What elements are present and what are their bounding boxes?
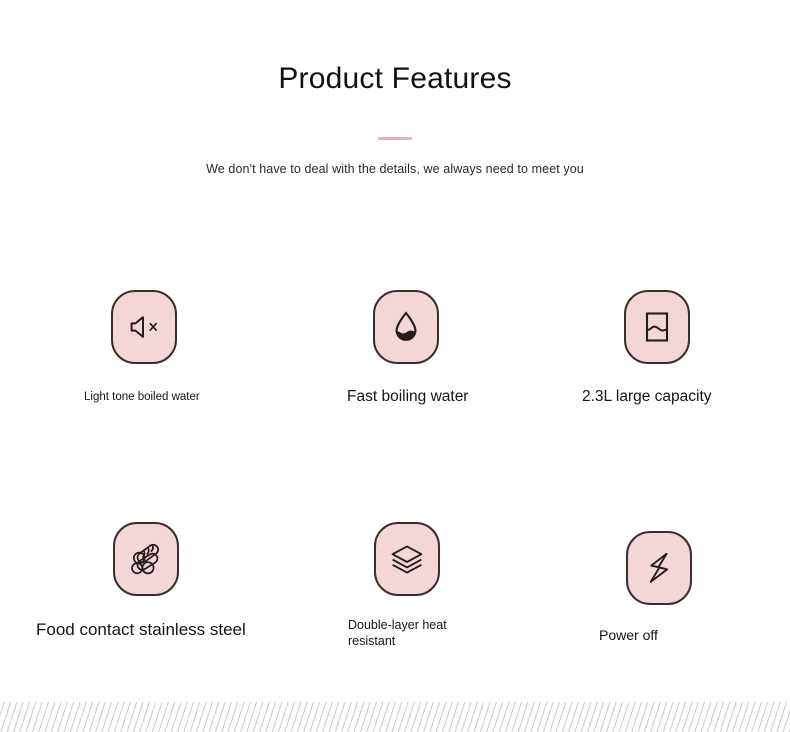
feature-icon-tile xyxy=(624,290,690,364)
water-drop-icon xyxy=(392,310,420,344)
lightning-bolt-icon xyxy=(646,551,672,585)
feature-icon-tile xyxy=(111,290,177,364)
bottom-hatch-strip xyxy=(0,702,790,732)
page-subtitle: We don't have to deal with the details, … xyxy=(0,162,790,176)
water-level-container-icon xyxy=(642,310,672,344)
feature-label: 2.3L large capacity xyxy=(582,387,790,406)
feature-label: Food contact stainless steel xyxy=(36,619,310,640)
feature-item-large-capacity[interactable]: 2.3L large capacity xyxy=(580,290,790,406)
stacked-cylinders-icon xyxy=(127,540,165,578)
title-divider xyxy=(378,137,412,140)
feature-label: Double-layer heat resistant xyxy=(348,618,580,649)
feature-item-double-layer-heat-resistant[interactable]: Double-layer heat resistant xyxy=(330,522,580,649)
speaker-mute-icon xyxy=(127,314,161,340)
feature-label: Fast boiling water xyxy=(347,387,580,406)
feature-icon-tile xyxy=(113,522,179,596)
feature-icon-tile xyxy=(626,531,692,605)
page-title: Product Features xyxy=(0,0,790,95)
feature-item-stainless-steel[interactable]: Food contact stainless steel xyxy=(60,522,310,640)
feature-item-power-off[interactable]: Power off xyxy=(580,531,790,645)
feature-item-light-tone-boiled-water[interactable]: Light tone boiled water xyxy=(60,290,310,404)
feature-icon-tile xyxy=(374,522,440,596)
page-header: Product Features We don't have to deal w… xyxy=(0,0,790,176)
feature-label: Light tone boiled water xyxy=(84,390,310,404)
layers-icon xyxy=(389,543,425,575)
feature-label: Power off xyxy=(599,627,790,645)
feature-grid: Light tone boiled water Fast boiling wat… xyxy=(0,268,790,688)
feature-item-fast-boiling-water[interactable]: Fast boiling water xyxy=(330,290,580,406)
feature-icon-tile xyxy=(373,290,439,364)
product-features-page: Product Features We don't have to deal w… xyxy=(0,0,790,732)
